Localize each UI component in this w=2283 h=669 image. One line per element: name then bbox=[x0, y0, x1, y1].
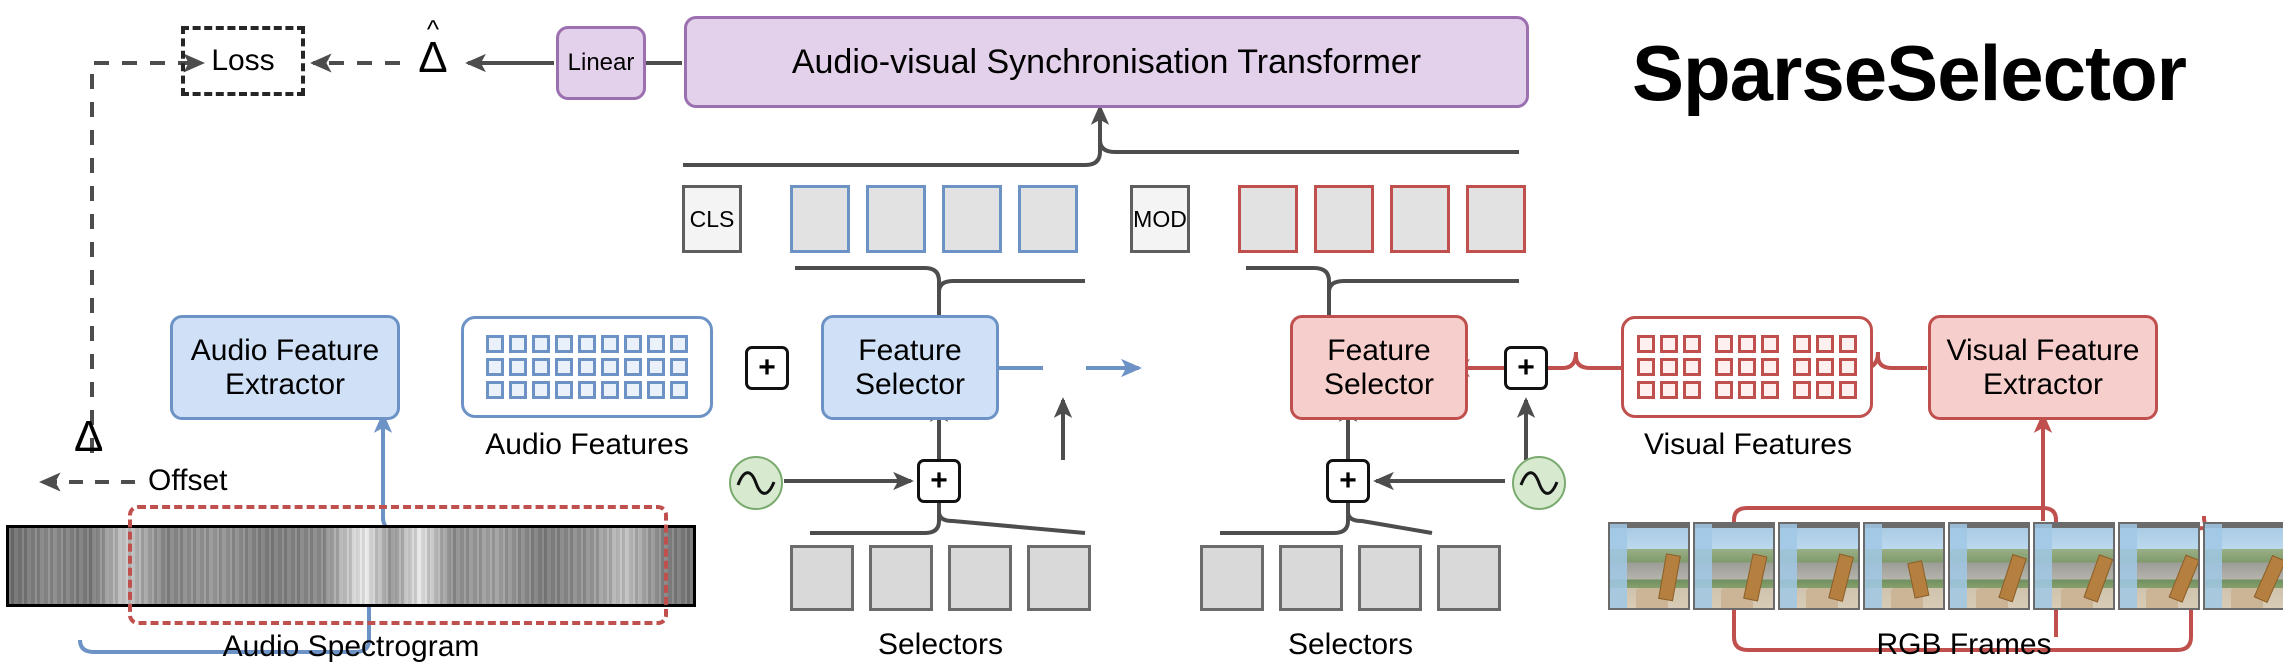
offset-delta-symbol: Δ bbox=[74, 412, 103, 462]
linear-head[interactable]: Linear bbox=[556, 26, 646, 100]
plus-glyph: + bbox=[1517, 353, 1535, 383]
visual-feature-cell bbox=[1715, 381, 1733, 399]
audio-pos-plus-upper: + bbox=[745, 346, 789, 390]
visual-feature-selector[interactable]: Feature Selector bbox=[1290, 315, 1468, 420]
visual-feature-cell bbox=[1683, 358, 1701, 376]
transformer-label: Audio-visual Synchronisation Transformer bbox=[792, 43, 1421, 82]
audio-feature-cell bbox=[532, 358, 550, 376]
visual-feature-extractor[interactable]: Visual Feature Extractor bbox=[1928, 315, 2158, 420]
rgb-frame bbox=[1778, 522, 1860, 610]
audio-feature-cell bbox=[509, 358, 527, 376]
rgb-frame bbox=[1608, 522, 1690, 610]
audio-feature-row bbox=[486, 335, 688, 353]
plus-glyph: + bbox=[758, 353, 776, 383]
token-visual-1[interactable] bbox=[1238, 185, 1298, 253]
audio-feature-cell bbox=[578, 358, 596, 376]
visual-feature-cell bbox=[1637, 335, 1655, 353]
audio-feature-row bbox=[486, 381, 688, 399]
audio-spectrogram-red-crop bbox=[128, 505, 668, 625]
visual-features-grid bbox=[1621, 316, 1873, 418]
visual-feature-row bbox=[1637, 381, 1857, 399]
audio-selector-4[interactable] bbox=[1027, 545, 1091, 611]
token-visual-2[interactable] bbox=[1314, 185, 1374, 253]
rgb-frame bbox=[2033, 522, 2115, 610]
token-cls[interactable]: CLS bbox=[682, 185, 742, 253]
transformer-block[interactable]: Audio-visual Synchronisation Transformer bbox=[684, 16, 1529, 108]
loss-label: Loss bbox=[211, 44, 274, 78]
audio-selector-line1: Feature bbox=[858, 334, 961, 368]
audio-features-grid bbox=[461, 316, 713, 418]
audio-selector-3[interactable] bbox=[948, 545, 1012, 611]
audio-feature-cell bbox=[647, 335, 665, 353]
visual-feature-cell bbox=[1816, 381, 1834, 399]
visual-feature-cell bbox=[1839, 335, 1857, 353]
visual-feature-cell bbox=[1683, 335, 1701, 353]
audio-feature-cell bbox=[532, 335, 550, 353]
visual-extractor-line2: Extractor bbox=[1983, 368, 2103, 402]
audio-feature-cell bbox=[624, 381, 642, 399]
audio-feature-cell bbox=[670, 381, 688, 399]
sine-wave-icon-visual bbox=[1512, 456, 1566, 510]
audio-sel-plus-lower: + bbox=[917, 459, 961, 503]
audio-feature-cell bbox=[601, 335, 619, 353]
visual-selector-line2: Selector bbox=[1324, 368, 1434, 402]
rgb-frame bbox=[1693, 522, 1775, 610]
visual-selector-1[interactable] bbox=[1200, 545, 1264, 611]
audio-selectors-label: Selectors bbox=[790, 628, 1091, 662]
sine-wave-glyph bbox=[1517, 461, 1561, 505]
rgb-frame bbox=[2118, 522, 2200, 610]
visual-feature-cell bbox=[1738, 381, 1756, 399]
audio-feature-extractor[interactable]: Audio Feature Extractor bbox=[170, 315, 400, 420]
visual-feature-cell bbox=[1793, 335, 1811, 353]
audio-feature-cell bbox=[486, 335, 504, 353]
sine-wave-glyph bbox=[734, 461, 778, 505]
visual-feature-cell bbox=[1816, 335, 1834, 353]
visual-selector-3[interactable] bbox=[1358, 545, 1422, 611]
token-audio-4[interactable] bbox=[1018, 185, 1078, 253]
token-visual-3[interactable] bbox=[1390, 185, 1450, 253]
audio-feature-cell bbox=[601, 358, 619, 376]
audio-feature-cell bbox=[555, 335, 573, 353]
visual-feature-cell bbox=[1816, 358, 1834, 376]
sine-wave-icon-audio bbox=[729, 456, 783, 510]
audio-feature-cell bbox=[509, 335, 527, 353]
audio-feature-cell bbox=[670, 358, 688, 376]
visual-feature-cell bbox=[1637, 381, 1655, 399]
plus-glyph: + bbox=[1339, 466, 1357, 496]
audio-feature-cell bbox=[486, 381, 504, 399]
visual-feature-cell bbox=[1761, 335, 1779, 353]
rgb-frame bbox=[2203, 522, 2283, 610]
audio-feature-cell bbox=[578, 381, 596, 399]
linear-label: Linear bbox=[568, 49, 635, 77]
loss-box: Loss bbox=[181, 26, 305, 96]
visual-feature-cell bbox=[1839, 381, 1857, 399]
visual-extractor-line1: Visual Feature bbox=[1947, 334, 2140, 368]
visual-feature-cell bbox=[1660, 335, 1678, 353]
rgb-frame bbox=[1948, 522, 2030, 610]
audio-feature-cell bbox=[624, 358, 642, 376]
plus-glyph: + bbox=[930, 466, 948, 496]
visual-feature-cell bbox=[1683, 381, 1701, 399]
audio-extractor-line2: Extractor bbox=[225, 368, 345, 402]
token-mod[interactable]: MOD bbox=[1130, 185, 1190, 253]
visual-feature-cell bbox=[1660, 381, 1678, 399]
audio-feature-cell bbox=[670, 335, 688, 353]
token-cls-label: CLS bbox=[690, 206, 735, 233]
visual-feature-cell bbox=[1715, 358, 1733, 376]
rgb-frame bbox=[1863, 522, 1945, 610]
audio-spectrogram-label: Audio Spectrogram bbox=[6, 630, 696, 664]
audio-feature-selector[interactable]: Feature Selector bbox=[821, 315, 999, 420]
visual-selector-4[interactable] bbox=[1437, 545, 1501, 611]
audio-selector-line2: Selector bbox=[855, 368, 965, 402]
visual-pos-plus-upper: + bbox=[1504, 346, 1548, 390]
diagram-canvas: SparseSelector Loss ^ Δ Linear Audio-vis… bbox=[0, 0, 2283, 669]
visual-feature-cell bbox=[1715, 335, 1733, 353]
audio-feature-cell bbox=[509, 381, 527, 399]
token-audio-3[interactable] bbox=[942, 185, 1002, 253]
delta-glyph: Δ bbox=[410, 36, 456, 80]
audio-feature-cell bbox=[532, 381, 550, 399]
rgb-frames-label: RGB Frames bbox=[1734, 628, 2194, 662]
audio-feature-cell bbox=[555, 381, 573, 399]
visual-feature-cell bbox=[1761, 381, 1779, 399]
predicted-offset-symbol: ^ Δ bbox=[410, 22, 456, 80]
audio-selector-2[interactable] bbox=[869, 545, 933, 611]
visual-feature-cell bbox=[1793, 381, 1811, 399]
visual-feature-row bbox=[1637, 335, 1857, 353]
visual-sel-plus-lower: + bbox=[1326, 459, 1370, 503]
token-audio-1[interactable] bbox=[790, 185, 850, 253]
audio-feature-row bbox=[486, 358, 688, 376]
audio-feature-cell bbox=[647, 381, 665, 399]
token-audio-2[interactable] bbox=[866, 185, 926, 253]
audio-extractor-line1: Audio Feature bbox=[191, 334, 379, 368]
audio-feature-cell bbox=[578, 335, 596, 353]
visual-feature-cell bbox=[1637, 358, 1655, 376]
audio-feature-cell bbox=[555, 358, 573, 376]
visual-selector-2[interactable] bbox=[1279, 545, 1343, 611]
token-mod-label: MOD bbox=[1133, 206, 1187, 233]
visual-feature-row bbox=[1637, 358, 1857, 376]
visual-feature-cell bbox=[1761, 358, 1779, 376]
visual-features-label: Visual Features bbox=[1621, 428, 1875, 462]
visual-selectors-label: Selectors bbox=[1200, 628, 1501, 662]
visual-feature-cell bbox=[1738, 358, 1756, 376]
offset-label: Offset bbox=[148, 464, 227, 498]
audio-features-label: Audio Features bbox=[460, 428, 714, 462]
visual-feature-cell bbox=[1793, 358, 1811, 376]
audio-feature-cell bbox=[647, 358, 665, 376]
audio-feature-cell bbox=[486, 358, 504, 376]
visual-feature-cell bbox=[1738, 335, 1756, 353]
audio-feature-cell bbox=[624, 335, 642, 353]
audio-selector-1[interactable] bbox=[790, 545, 854, 611]
visual-selector-line1: Feature bbox=[1327, 334, 1430, 368]
visual-feature-cell bbox=[1660, 358, 1678, 376]
token-visual-4[interactable] bbox=[1466, 185, 1526, 253]
page-title: SparseSelector bbox=[1632, 28, 2186, 119]
visual-feature-cell bbox=[1839, 358, 1857, 376]
audio-feature-cell bbox=[601, 381, 619, 399]
